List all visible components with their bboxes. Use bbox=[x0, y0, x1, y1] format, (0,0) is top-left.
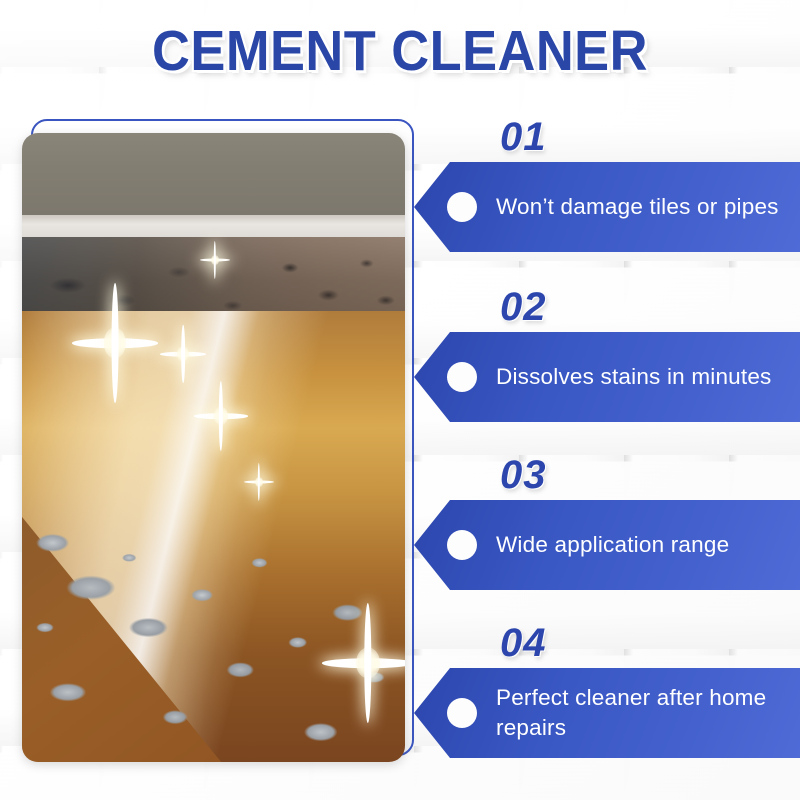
feature-text: Dissolves stains in minutes bbox=[496, 362, 788, 392]
feature-number: 02 bbox=[500, 285, 547, 330]
bullet-dot-icon bbox=[447, 362, 477, 392]
feature-text: Wide application range bbox=[496, 530, 788, 560]
feature-number: 01 bbox=[500, 115, 547, 160]
feature-callout-04[interactable]: 04 Perfect cleaner after home repairs bbox=[414, 668, 800, 758]
product-demo-photo bbox=[22, 133, 405, 762]
bullet-dot-icon bbox=[447, 192, 477, 222]
page-title: CEMENT CLEANER bbox=[32, 18, 768, 84]
bullet-dot-icon bbox=[447, 530, 477, 560]
photo-cement-splatter bbox=[22, 513, 405, 762]
photo-wall bbox=[22, 133, 405, 221]
feature-text: Won’t damage tiles or pipes bbox=[496, 192, 788, 222]
bullet-dot-icon bbox=[447, 698, 477, 728]
feature-number: 03 bbox=[500, 453, 547, 498]
feature-number: 04 bbox=[500, 621, 547, 666]
feature-callout-03[interactable]: 03 Wide application range bbox=[414, 500, 800, 590]
feature-callout-01[interactable]: 01 Won’t damage tiles or pipes bbox=[414, 162, 800, 252]
feature-text: Perfect cleaner after home repairs bbox=[496, 683, 788, 743]
feature-callout-02[interactable]: 02 Dissolves stains in minutes bbox=[414, 332, 800, 422]
product-infographic: CEMENT CLEANER 01 Won’t damage tiles or … bbox=[0, 0, 800, 800]
